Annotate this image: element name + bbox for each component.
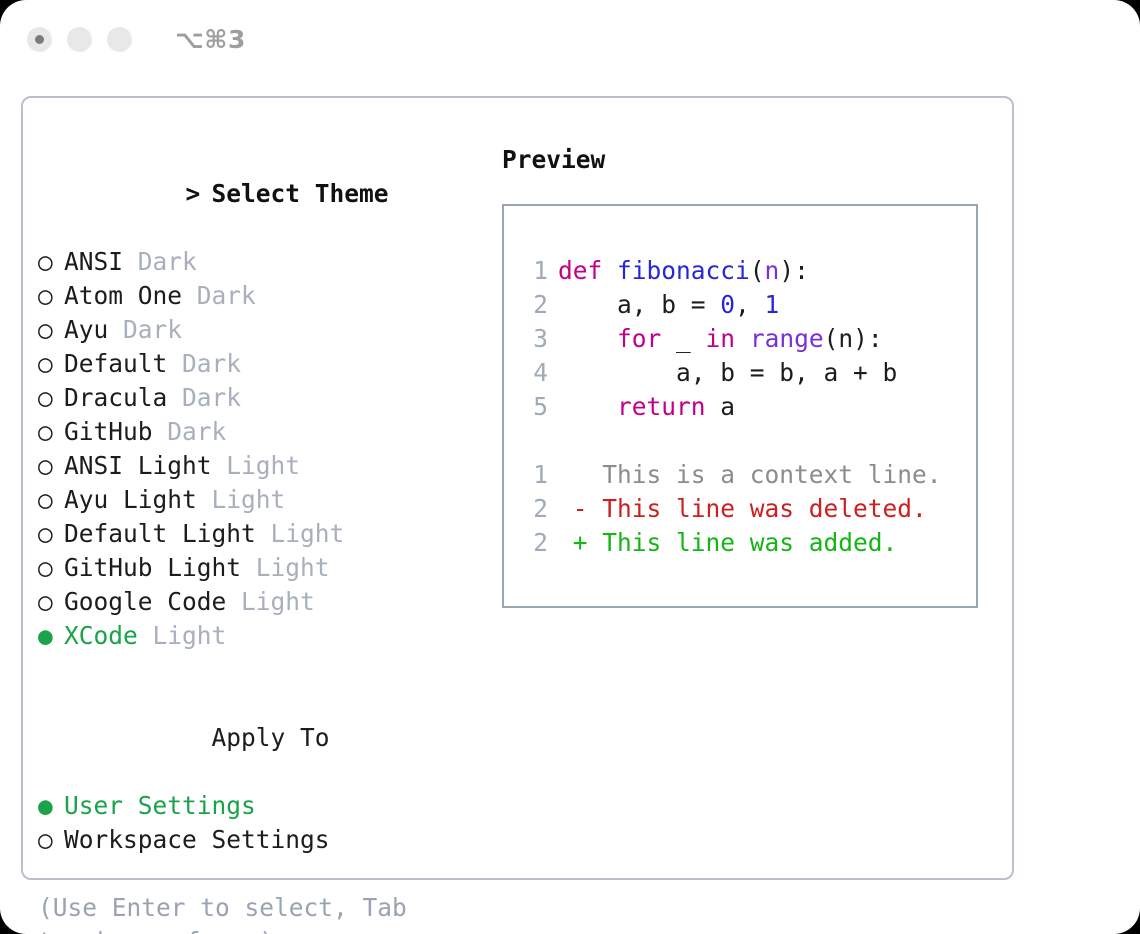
theme-kind-tag: Light bbox=[153, 621, 227, 650]
apply-to-heading-label: Apply To bbox=[212, 723, 330, 752]
preview-column: Preview 1def fibonacci(n):2 a, b = 0, 13… bbox=[502, 143, 1002, 608]
line-number: 3 bbox=[520, 322, 548, 356]
theme-list-item[interactable]: ○Google Code Light bbox=[38, 585, 488, 619]
apply-to-option-label: Workspace Settings bbox=[64, 825, 330, 854]
theme-list-item[interactable]: ●XCode Light bbox=[38, 619, 488, 653]
theme-name: Default bbox=[64, 349, 167, 378]
code-preview-area: 1def fibonacci(n):2 a, b = 0, 13 for _ i… bbox=[520, 254, 970, 560]
radio-unselected-icon[interactable]: ○ bbox=[38, 381, 64, 415]
spacer bbox=[38, 653, 488, 687]
code-token: 1 bbox=[765, 290, 780, 319]
code-token: a, b = bbox=[558, 290, 720, 319]
theme-list-item[interactable]: ○ANSI Dark bbox=[38, 245, 488, 279]
radio-unselected-icon[interactable]: ○ bbox=[38, 585, 64, 619]
theme-kind-tag: Light bbox=[212, 485, 286, 514]
radio-unselected-icon[interactable]: ○ bbox=[38, 517, 64, 551]
theme-gap bbox=[153, 417, 168, 446]
theme-name: GitHub bbox=[64, 417, 153, 446]
app-window: ⌥⌘3 >Select Theme ○ANSI Dark○Atom One Da… bbox=[0, 0, 1140, 934]
theme-gap bbox=[108, 315, 123, 344]
radio-unselected-icon[interactable]: ○ bbox=[38, 449, 64, 483]
line-number: 1 bbox=[520, 458, 548, 492]
diff-sample: 1 This is a context line.2 - This line w… bbox=[520, 458, 970, 560]
line-number: 2 bbox=[520, 526, 548, 560]
theme-gap bbox=[212, 451, 227, 480]
keyboard-shortcut-label: ⌥⌘3 bbox=[175, 25, 246, 54]
radio-unselected-icon[interactable]: ○ bbox=[38, 313, 64, 347]
theme-kind-tag: Light bbox=[271, 519, 345, 548]
code-token: 0 bbox=[720, 290, 735, 319]
line-number: 4 bbox=[520, 356, 548, 390]
theme-gap bbox=[197, 485, 212, 514]
theme-gap bbox=[241, 553, 256, 582]
theme-kind-tag: Light bbox=[226, 451, 300, 480]
code-token: + This line was added. bbox=[558, 528, 897, 557]
theme-name: Dracula bbox=[64, 383, 167, 412]
theme-name: Ayu Light bbox=[64, 485, 197, 514]
theme-kind-tag: Dark bbox=[182, 349, 241, 378]
theme-list-item[interactable]: ○GitHub Dark bbox=[38, 415, 488, 449]
theme-name: GitHub Light bbox=[64, 553, 241, 582]
code-token: in bbox=[706, 324, 736, 353]
theme-name: Ayu bbox=[64, 315, 108, 344]
apply-to-heading: Apply To bbox=[38, 687, 488, 789]
code-token: ): bbox=[779, 256, 809, 285]
theme-list-item[interactable]: ○Default Light Light bbox=[38, 517, 488, 551]
heading-marker: > bbox=[186, 177, 212, 211]
code-line: 1def fibonacci(n): bbox=[520, 254, 970, 288]
theme-list-item[interactable]: ○Atom One Dark bbox=[38, 279, 488, 313]
keyboard-hint-text: (Use Enter to select, Tab to change focu… bbox=[38, 891, 438, 934]
radio-unselected-icon[interactable]: ○ bbox=[38, 245, 64, 279]
code-token bbox=[558, 392, 617, 421]
theme-name: ANSI Light bbox=[64, 451, 212, 480]
theme-name: Default Light bbox=[64, 519, 256, 548]
radio-unselected-icon[interactable]: ○ bbox=[38, 415, 64, 449]
theme-name: ANSI bbox=[64, 247, 123, 276]
theme-kind-tag: Dark bbox=[182, 383, 241, 412]
code-token: for bbox=[617, 324, 661, 353]
theme-gap bbox=[167, 383, 182, 412]
code-token: , bbox=[735, 290, 765, 319]
diff-line: 2 - This line was deleted. bbox=[520, 492, 970, 526]
radio-unselected-icon[interactable]: ○ bbox=[38, 483, 64, 517]
radio-unselected-icon[interactable]: ○ bbox=[38, 551, 64, 585]
code-token: a bbox=[706, 392, 736, 421]
code-token: n bbox=[765, 256, 780, 285]
theme-name: Google Code bbox=[64, 587, 226, 616]
code-token: a, b = b, a + b bbox=[558, 358, 897, 387]
theme-list-item[interactable]: ○GitHub Light Light bbox=[38, 551, 488, 585]
code-line: 3 for _ in range(n): bbox=[520, 322, 970, 356]
theme-kind-tag: Dark bbox=[123, 315, 182, 344]
theme-kind-tag: Light bbox=[256, 553, 330, 582]
line-number: 1 bbox=[520, 254, 548, 288]
code-token: ( bbox=[750, 256, 765, 285]
theme-list-item[interactable]: ○Ayu Dark bbox=[38, 313, 488, 347]
theme-picker-column: >Select Theme ○ANSI Dark○Atom One Dark○A… bbox=[38, 143, 488, 934]
line-number: 2 bbox=[520, 492, 548, 526]
radio-unselected-icon[interactable]: ○ bbox=[38, 823, 64, 857]
traffic-dot-2[interactable] bbox=[67, 27, 92, 52]
line-number: 5 bbox=[520, 390, 548, 424]
apply-to-marker bbox=[186, 721, 212, 755]
code-token bbox=[735, 324, 750, 353]
radio-selected-icon[interactable]: ● bbox=[38, 619, 64, 653]
theme-list-item[interactable]: ○Ayu Light Light bbox=[38, 483, 488, 517]
diff-line: 2 + This line was added. bbox=[520, 526, 970, 560]
code-token: - This line was deleted. bbox=[558, 494, 927, 523]
code-token: fibonacci bbox=[617, 256, 750, 285]
code-line: 2 a, b = 0, 1 bbox=[520, 288, 970, 322]
traffic-dot-3[interactable] bbox=[107, 27, 132, 52]
code-token bbox=[558, 324, 617, 353]
theme-kind-tag: Dark bbox=[138, 247, 197, 276]
theme-kind-tag: Dark bbox=[167, 417, 226, 446]
theme-gap bbox=[123, 247, 138, 276]
apply-to-option-label: User Settings bbox=[64, 791, 256, 820]
code-token: def bbox=[558, 256, 617, 285]
theme-kind-tag: Dark bbox=[197, 281, 256, 310]
code-token: return bbox=[617, 392, 706, 421]
theme-gap bbox=[138, 621, 153, 650]
code-token: _ bbox=[661, 324, 705, 353]
theme-gap bbox=[182, 281, 197, 310]
code-line: 5 return a bbox=[520, 390, 970, 424]
radio-selected-icon[interactable]: ● bbox=[38, 789, 64, 823]
theme-list-item[interactable]: ○ANSI Light Light bbox=[38, 449, 488, 483]
code-token: This is a context line. bbox=[558, 460, 942, 489]
main-panel: >Select Theme ○ANSI Dark○Atom One Dark○A… bbox=[21, 96, 1014, 880]
traffic-dot-active[interactable] bbox=[27, 27, 52, 52]
apply-to-option[interactable]: ●User Settings bbox=[38, 789, 488, 823]
traffic-dot-active-inner bbox=[35, 35, 44, 44]
diff-line: 1 This is a context line. bbox=[520, 458, 970, 492]
radio-unselected-icon[interactable]: ○ bbox=[38, 347, 64, 381]
theme-name: XCode bbox=[64, 621, 138, 650]
theme-list-item[interactable]: ○Default Dark bbox=[38, 347, 488, 381]
theme-gap bbox=[256, 519, 271, 548]
code-line: 4 a, b = b, a + b bbox=[520, 356, 970, 390]
preview-box: 1def fibonacci(n):2 a, b = 0, 13 for _ i… bbox=[502, 204, 978, 608]
code-diff-separator bbox=[520, 424, 970, 458]
apply-to-option[interactable]: ○Workspace Settings bbox=[38, 823, 488, 857]
apply-to-list: ●User Settings○Workspace Settings bbox=[38, 789, 488, 857]
theme-gap bbox=[167, 349, 182, 378]
code-token: range bbox=[750, 324, 824, 353]
code-sample: 1def fibonacci(n):2 a, b = 0, 13 for _ i… bbox=[520, 254, 970, 424]
select-theme-heading: >Select Theme bbox=[38, 143, 488, 245]
titlebar: ⌥⌘3 bbox=[0, 0, 1140, 78]
preview-title: Preview bbox=[502, 143, 1002, 177]
select-theme-heading-label: Select Theme bbox=[212, 179, 389, 208]
theme-list-item[interactable]: ○Dracula Dark bbox=[38, 381, 488, 415]
code-token: (n): bbox=[824, 324, 883, 353]
theme-name: Atom One bbox=[64, 281, 182, 310]
theme-gap bbox=[226, 587, 241, 616]
line-number: 2 bbox=[520, 288, 548, 322]
radio-unselected-icon[interactable]: ○ bbox=[38, 279, 64, 313]
theme-list: ○ANSI Dark○Atom One Dark○Ayu Dark○Defaul… bbox=[38, 245, 488, 653]
theme-kind-tag: Light bbox=[241, 587, 315, 616]
